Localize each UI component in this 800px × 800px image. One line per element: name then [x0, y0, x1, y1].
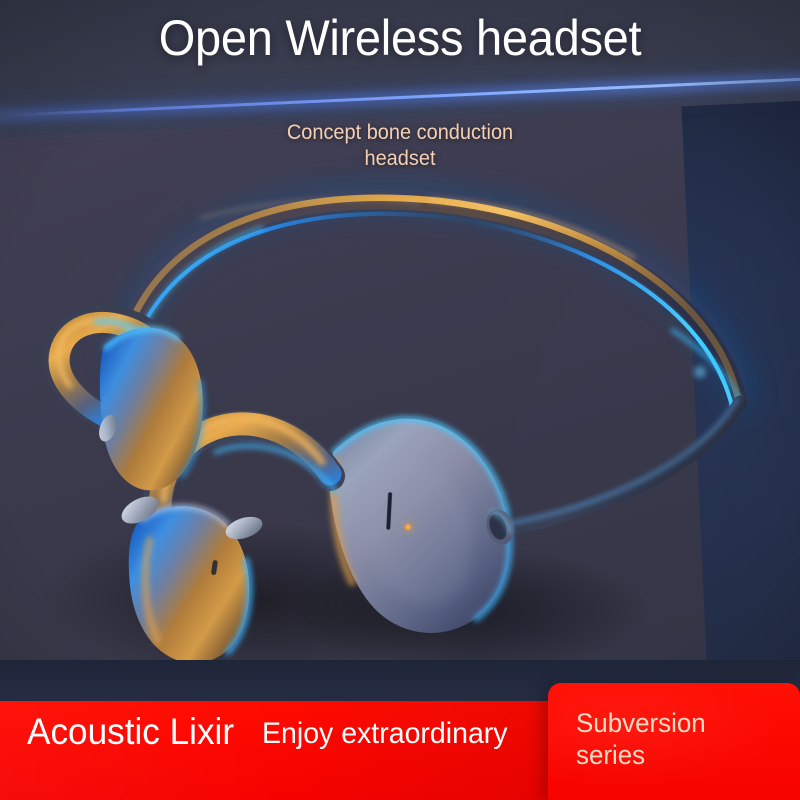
series-badge-text: Subversion series [576, 708, 706, 771]
page-title: Open Wireless headset [24, 13, 776, 63]
left-module [100, 328, 203, 491]
page-subtitle-line-1: Concept bone conduction [287, 121, 513, 144]
brand-name: Acoustic Lixir [27, 713, 234, 750]
footer-tagline: Enjoy extraordinary [262, 719, 508, 749]
series-badge-line-2: series [576, 740, 706, 772]
series-badge-card: Subversion series [548, 683, 800, 800]
page-subtitle-line-2: headset [20, 146, 780, 172]
product-ad-canvas: Open Wireless headset Concept bone condu… [0, 0, 800, 800]
right-cable [505, 398, 740, 530]
status-led-glow [403, 522, 413, 532]
series-badge-line-1: Subversion [576, 708, 706, 738]
page-subtitle: Concept bone conduction headset [20, 120, 780, 173]
neckband-arc [120, 197, 742, 406]
